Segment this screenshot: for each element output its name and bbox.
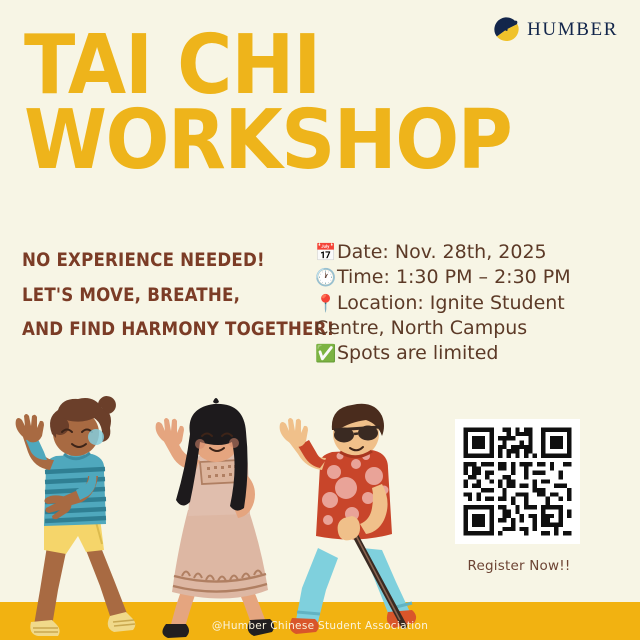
detail-row-date: 📅Date: Nov. 28th, 2025 [315, 240, 605, 265]
tagline-block: NO EXPERIENCE NEEDED! LET'S MOVE, BREATH… [22, 252, 312, 356]
tagline-line-3: AND FIND HARMONY TOGETHER! [22, 321, 312, 340]
detail-text-spots: Spots are limited [337, 342, 498, 364]
event-details: 📅Date: Nov. 28th, 2025 🕐Time: 1:30 PM – … [315, 240, 605, 366]
calendar-icon: 📅 [315, 242, 337, 265]
detail-text-time: Time: 1:30 PM – 2:30 PM [337, 266, 571, 288]
check-mark-icon: ✅ [315, 343, 337, 366]
figure-center [156, 398, 274, 638]
detail-row-location: 📍Location: Ignite Student Centre, North … [315, 291, 605, 342]
page-title: TAI CHI WORKSHOP [24, 28, 584, 179]
qr-registration-block[interactable]: Register Now!! [455, 419, 583, 574]
qr-code-icon[interactable] [455, 419, 580, 544]
tagline-line-2: LET'S MOVE, BREATHE, [22, 287, 312, 306]
register-now-label[interactable]: Register Now!! [455, 558, 583, 574]
detail-row-spots: ✅Spots are limited [315, 341, 605, 366]
location-pin-icon: 📍 [315, 293, 337, 316]
detail-row-time: 🕐Time: 1:30 PM – 2:30 PM [315, 265, 605, 290]
detail-text-date: Date: Nov. 28th, 2025 [337, 241, 547, 263]
figure-left [16, 396, 136, 636]
poster-canvas: HUMBER TAI CHI WORKSHOP NO EXPERIENCE NE… [0, 0, 640, 640]
headline-line-2: WORKSHOP [24, 103, 595, 178]
tagline-line-1: NO EXPERIENCE NEEDED! [22, 252, 312, 271]
tai-chi-illustration [0, 390, 450, 640]
detail-text-location: Location: Ignite Student Centre, North C… [315, 292, 565, 339]
footer-credit: @Humber Chinese Student Association [0, 620, 640, 632]
clock-icon: 🕐 [315, 267, 337, 290]
figure-right [280, 404, 416, 634]
headline-line-1: TAI CHI [24, 28, 595, 103]
